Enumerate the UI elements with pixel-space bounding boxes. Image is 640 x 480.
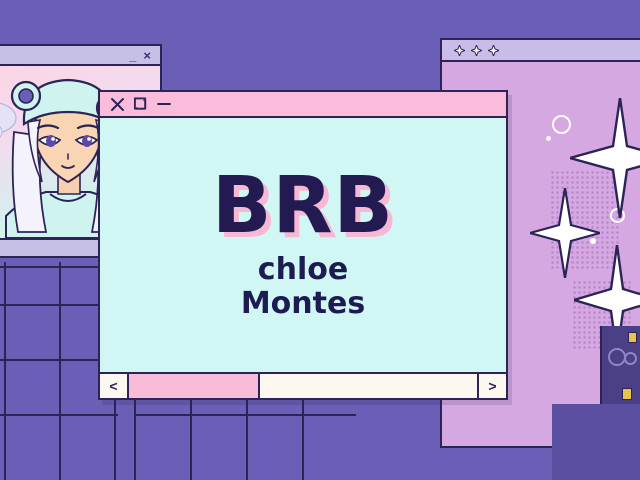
author-first-name: chloe	[241, 253, 365, 287]
minimize-icon[interactable]: _	[129, 49, 136, 62]
ring-circle-icon	[546, 136, 551, 141]
minimize-icon[interactable]	[156, 97, 172, 111]
author-name: chloe Montes	[241, 253, 365, 320]
scrollbar-track[interactable]	[129, 374, 477, 398]
scroll-left-button[interactable]: <	[100, 374, 129, 398]
page-title: BRB	[212, 169, 394, 243]
scroll-right-button[interactable]: >	[477, 374, 506, 398]
maximize-icon[interactable]	[134, 98, 147, 111]
brb-window[interactable]: BRB chloe Montes < >	[98, 90, 508, 400]
brb-window-body: BRB chloe Montes	[100, 118, 506, 372]
brb-window-titlebar[interactable]	[100, 92, 506, 118]
diamond-sparkle-icon	[488, 45, 499, 56]
diamond-sparkle-icon	[471, 45, 482, 56]
author-last-name: Montes	[241, 287, 365, 321]
background-wedge	[552, 404, 640, 480]
diamond-sparkle-icon	[454, 45, 465, 56]
screenshot-canvas: _ ×	[0, 0, 640, 480]
ring-circle-icon	[552, 115, 571, 134]
scrollbar-thumb[interactable]	[129, 374, 260, 398]
close-icon[interactable]: ×	[143, 49, 151, 62]
horizontal-scrollbar[interactable]: < >	[100, 372, 506, 398]
sparkle-window-titlebar[interactable]	[442, 40, 640, 62]
illustration-window-titlebar[interactable]: _ ×	[0, 46, 160, 66]
close-icon[interactable]	[110, 97, 125, 112]
